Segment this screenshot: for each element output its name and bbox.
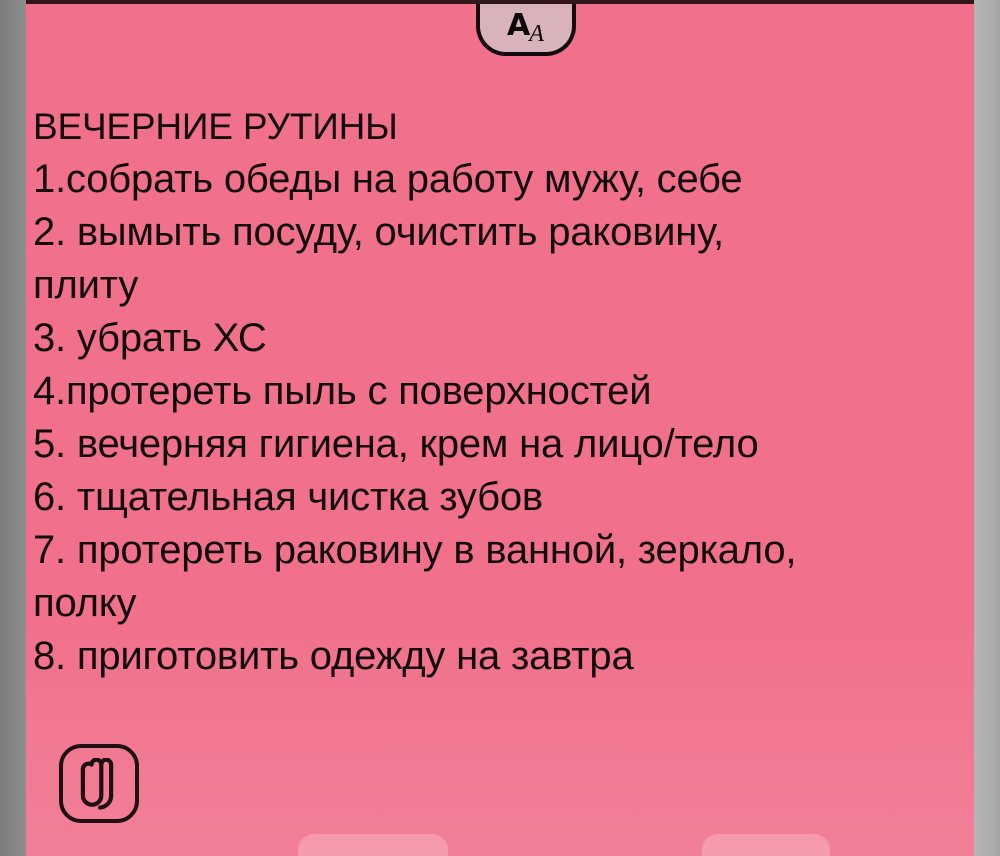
note-body[interactable]: ВЕЧЕРНИЕ РУТИНЫ 1.собрать обеды на работ… <box>33 100 958 683</box>
note-line-5: 5. вечерняя гигиена, крем на лицо/тело <box>33 418 958 471</box>
text-size-aa-button[interactable]: AA <box>476 4 576 56</box>
right-edge-chrome <box>974 0 1000 856</box>
aa-small-letter: A <box>529 22 544 46</box>
screen: AA ВЕЧЕРНИЕ РУТИНЫ 1.собрать обеды на ра… <box>0 0 1000 856</box>
note-line-1: 1.собрать обеды на работу мужу, себе <box>33 153 958 206</box>
note-line-7-wrap: полку <box>33 577 958 630</box>
note-line-4: 4.протереть пыль с поверхностей <box>33 365 958 418</box>
note-page: AA ВЕЧЕРНИЕ РУТИНЫ 1.собрать обеды на ра… <box>26 0 974 856</box>
ghost-button-2[interactable] <box>702 834 830 856</box>
left-edge-chrome <box>0 0 26 856</box>
note-line-6: 6. тщательная чистка зубов <box>33 471 958 524</box>
aa-large-letter: A <box>507 11 530 41</box>
bottom-toolbar-peek <box>26 830 974 856</box>
note-line-7: 7. протереть раковину в ванной, зеркало, <box>33 524 958 577</box>
note-line-2-wrap: плиту <box>33 259 958 312</box>
note-line-8: 8. приготовить одежду на завтра <box>33 630 958 683</box>
ghost-button-1[interactable] <box>298 834 448 856</box>
note-title: ВЕЧЕРНИЕ РУТИНЫ <box>33 100 958 153</box>
attachment-button[interactable] <box>59 744 139 823</box>
paperclip-icon <box>79 758 119 810</box>
note-line-3: 3. убрать ХС <box>33 312 958 365</box>
note-line-2: 2. вымыть посуду, очистить раковину, <box>33 206 958 259</box>
